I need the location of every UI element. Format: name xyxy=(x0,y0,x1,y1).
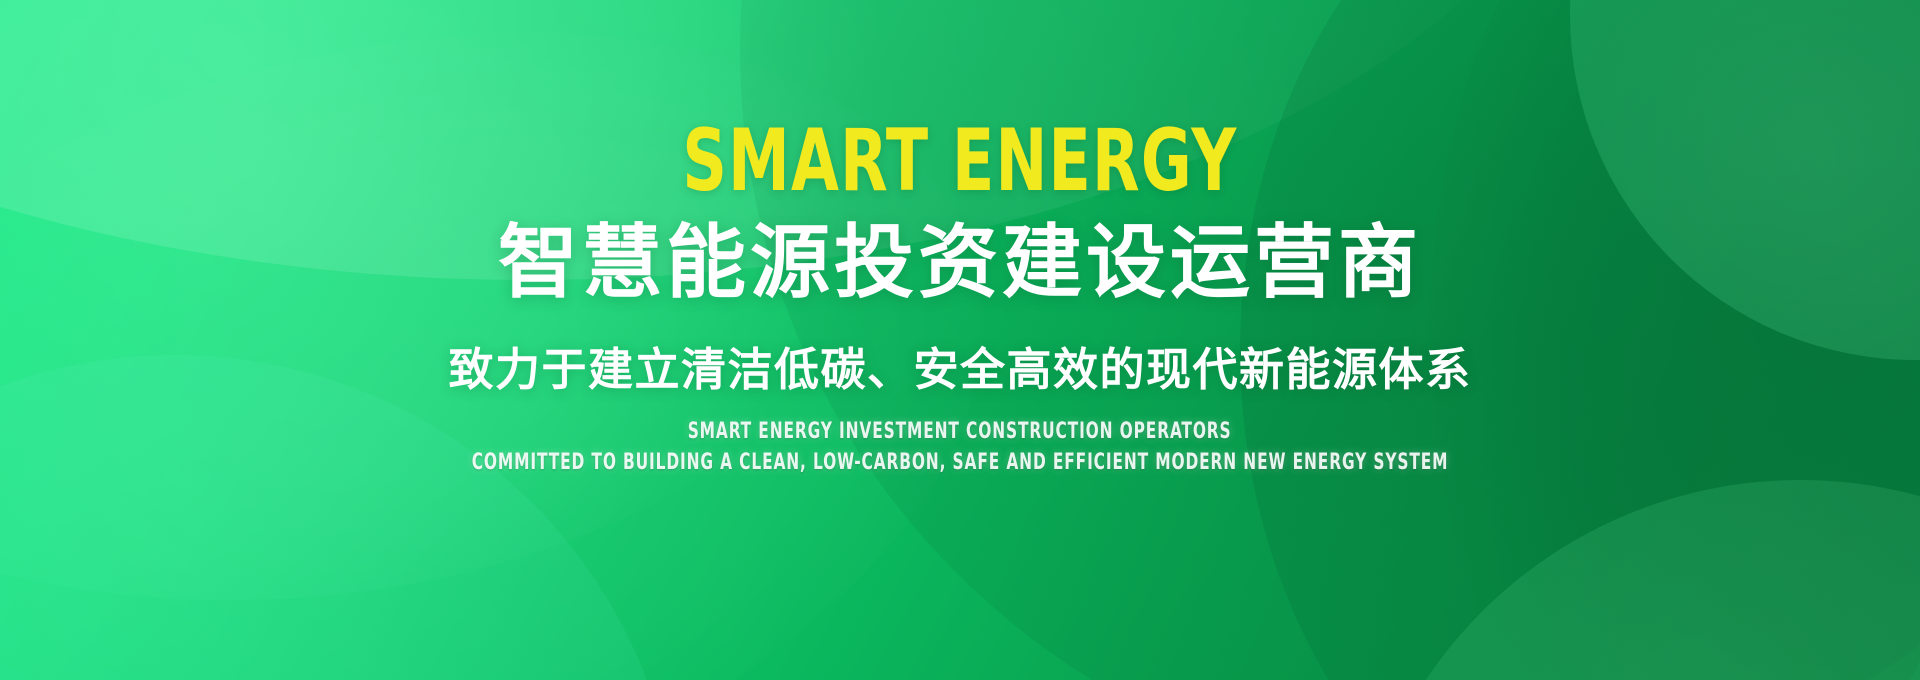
hero-banner: SMART ENERGY 智慧能源投资建设运营商 致力于建立清洁低碳、安全高效的… xyxy=(0,0,1920,680)
tagline-english-line-2: COMMITTED TO BUILDING A CLEAN, LOW-CARBO… xyxy=(472,452,1449,474)
subheadline-chinese: 致力于建立清洁低碳、安全高效的现代新能源体系 xyxy=(448,347,1471,392)
tagline-english-line-1: SMART ENERGY INVESTMENT CONSTRUCTION OPE… xyxy=(688,421,1232,443)
headline-english: SMART ENERGY xyxy=(683,119,1238,203)
headline-chinese: 智慧能源投资建设运营商 xyxy=(498,223,1422,303)
banner-text-stack: SMART ENERGY 智慧能源投资建设运营商 致力于建立清洁低碳、安全高效的… xyxy=(0,0,1920,680)
